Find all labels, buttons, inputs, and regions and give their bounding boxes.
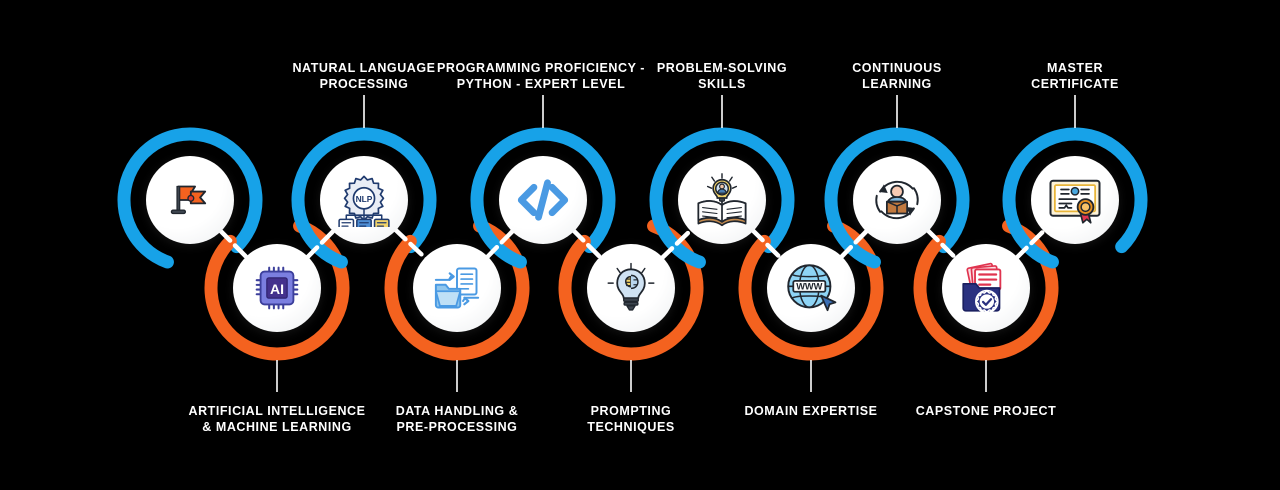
milestone-label-problem-solving-skills: PROBLEM-SOLVING SKILLS <box>657 61 787 92</box>
milestone-node-artificial-intelligence-machine-learning[interactable]: AI <box>233 244 321 332</box>
milestone-node-domain-expertise[interactable]: WWW <box>767 244 855 332</box>
milestone-node-master-certificate[interactable] <box>1031 156 1119 244</box>
ai-chip-icon: AI <box>252 263 302 313</box>
svg-text:AI: AI <box>270 281 284 297</box>
project-folder-icon <box>959 261 1013 315</box>
lightbulb-brain-icon <box>605 262 657 314</box>
milestone-label-data-handling-pre-processing: DATA HANDLING & PRE-PROCESSING <box>396 404 519 435</box>
milestone-label-artificial-intelligence-machine-learning: ARTIFICIAL INTELLIGENCE & MACHINE LEARNI… <box>189 404 366 435</box>
milestone-node-start-flag[interactable] <box>146 156 234 244</box>
person-cycle-icon <box>870 173 924 227</box>
flag-icon <box>163 173 217 227</box>
data-folder-icon <box>431 262 483 314</box>
milestone-label-continuous-learning: CONTINUOUS LEARNING <box>852 61 942 92</box>
milestone-label-programming-proficiency-python: PROGRAMMING PROFICIENCY - PYTHON - EXPER… <box>437 61 645 92</box>
milestone-node-programming-proficiency-python[interactable] <box>499 156 587 244</box>
svg-text:NLP: NLP <box>356 194 373 204</box>
infographic-canvas: AI NLP <box>0 0 1280 490</box>
globe-www-icon: WWW <box>784 261 838 315</box>
milestone-node-data-handling-pre-processing[interactable] <box>413 244 501 332</box>
milestone-label-capstone-project: CAPSTONE PROJECT <box>916 404 1057 420</box>
certificate-icon <box>1047 172 1103 228</box>
milestone-node-natural-language-processing[interactable]: NLP <box>320 156 408 244</box>
svg-text:WWW: WWW <box>796 281 822 291</box>
code-brackets-icon <box>514 171 572 229</box>
milestone-node-prompting-techniques[interactable] <box>587 244 675 332</box>
milestone-label-natural-language-processing: NATURAL LANGUAGE PROCESSING <box>292 61 435 92</box>
milestone-node-problem-solving-skills[interactable] <box>678 156 766 244</box>
milestone-label-prompting-techniques: PROMPTING TECHNIQUES <box>587 404 674 435</box>
milestone-label-master-certificate: MASTER CERTIFICATE <box>1031 61 1119 92</box>
milestone-node-capstone-project[interactable] <box>942 244 1030 332</box>
book-idea-icon <box>695 173 749 227</box>
nlp-icon: NLP <box>337 173 391 227</box>
milestone-node-continuous-learning[interactable] <box>853 156 941 244</box>
milestone-label-domain-expertise: DOMAIN EXPERTISE <box>744 404 877 420</box>
